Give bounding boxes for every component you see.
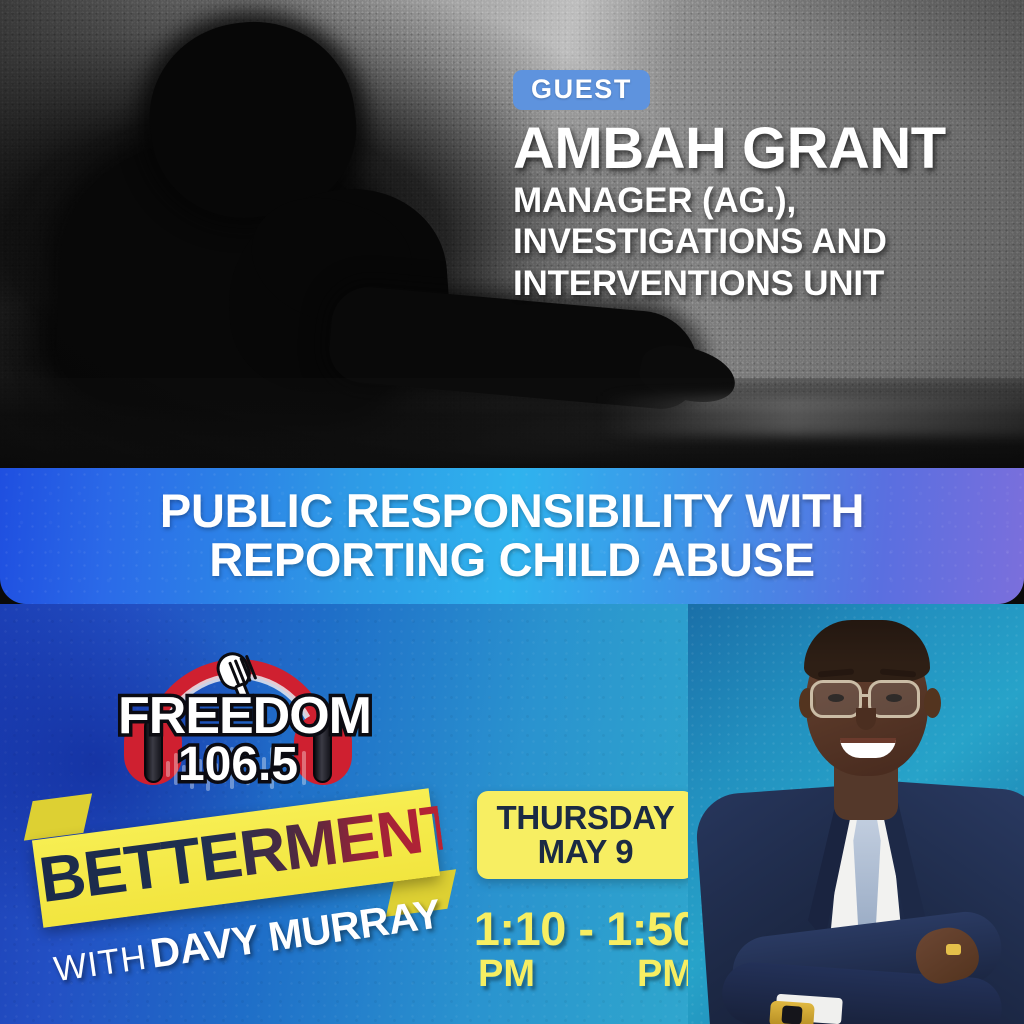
station-name: FREEDOM (118, 693, 358, 741)
meridiem-start: PM (478, 955, 535, 993)
portrait-nose (856, 708, 876, 730)
wristwatch-face (781, 1005, 802, 1024)
host-portrait-photo (688, 604, 1024, 1024)
topic-line-2: REPORTING CHILD ABUSE (160, 536, 864, 585)
station-frequency: 106.5 (118, 743, 358, 787)
event-promo-poster: GUEST AMBAH GRANT MANAGER (AG.), INVESTI… (0, 0, 1024, 1024)
guest-role-line-1: MANAGER (AG.), (513, 182, 1013, 219)
guest-badge: GUEST (513, 70, 650, 110)
date-badge: THURSDAY MAY 9 (477, 791, 694, 879)
guest-info-block: GUEST AMBAH GRANT MANAGER (AG.), INVESTI… (513, 70, 1013, 302)
wristwatch (769, 1000, 815, 1024)
schedule-day: THURSDAY (497, 801, 675, 835)
topic-line-1: PUBLIC RESPONSIBILITY WITH (160, 487, 864, 536)
schedule-meridiem-row: PM PM (468, 955, 704, 993)
eyeglasses-lens-left (810, 680, 862, 718)
finger-ring (946, 944, 961, 955)
guest-role-line-2: INVESTIGATIONS AND (513, 223, 1013, 260)
freedom-radio-logo: FREEDOM 106.5 (118, 655, 358, 795)
portrait-ear-right (924, 688, 941, 718)
guest-role-line-3: INTERVENTIONS UNIT (513, 265, 1013, 302)
station-logo-text: FREEDOM 106.5 (118, 693, 358, 787)
guest-name: AMBAH GRANT (513, 121, 1013, 178)
eyeglasses-bridge (861, 694, 871, 697)
topic-banner: PUBLIC RESPONSIBILITY WITH REPORTING CHI… (0, 468, 1024, 604)
topic-text: PUBLIC RESPONSIBILITY WITH REPORTING CHI… (160, 487, 864, 585)
meridiem-end: PM (637, 955, 694, 993)
schedule-time-range: 1:10 - 1:50 (468, 905, 704, 952)
schedule-date: MAY 9 (538, 835, 634, 869)
